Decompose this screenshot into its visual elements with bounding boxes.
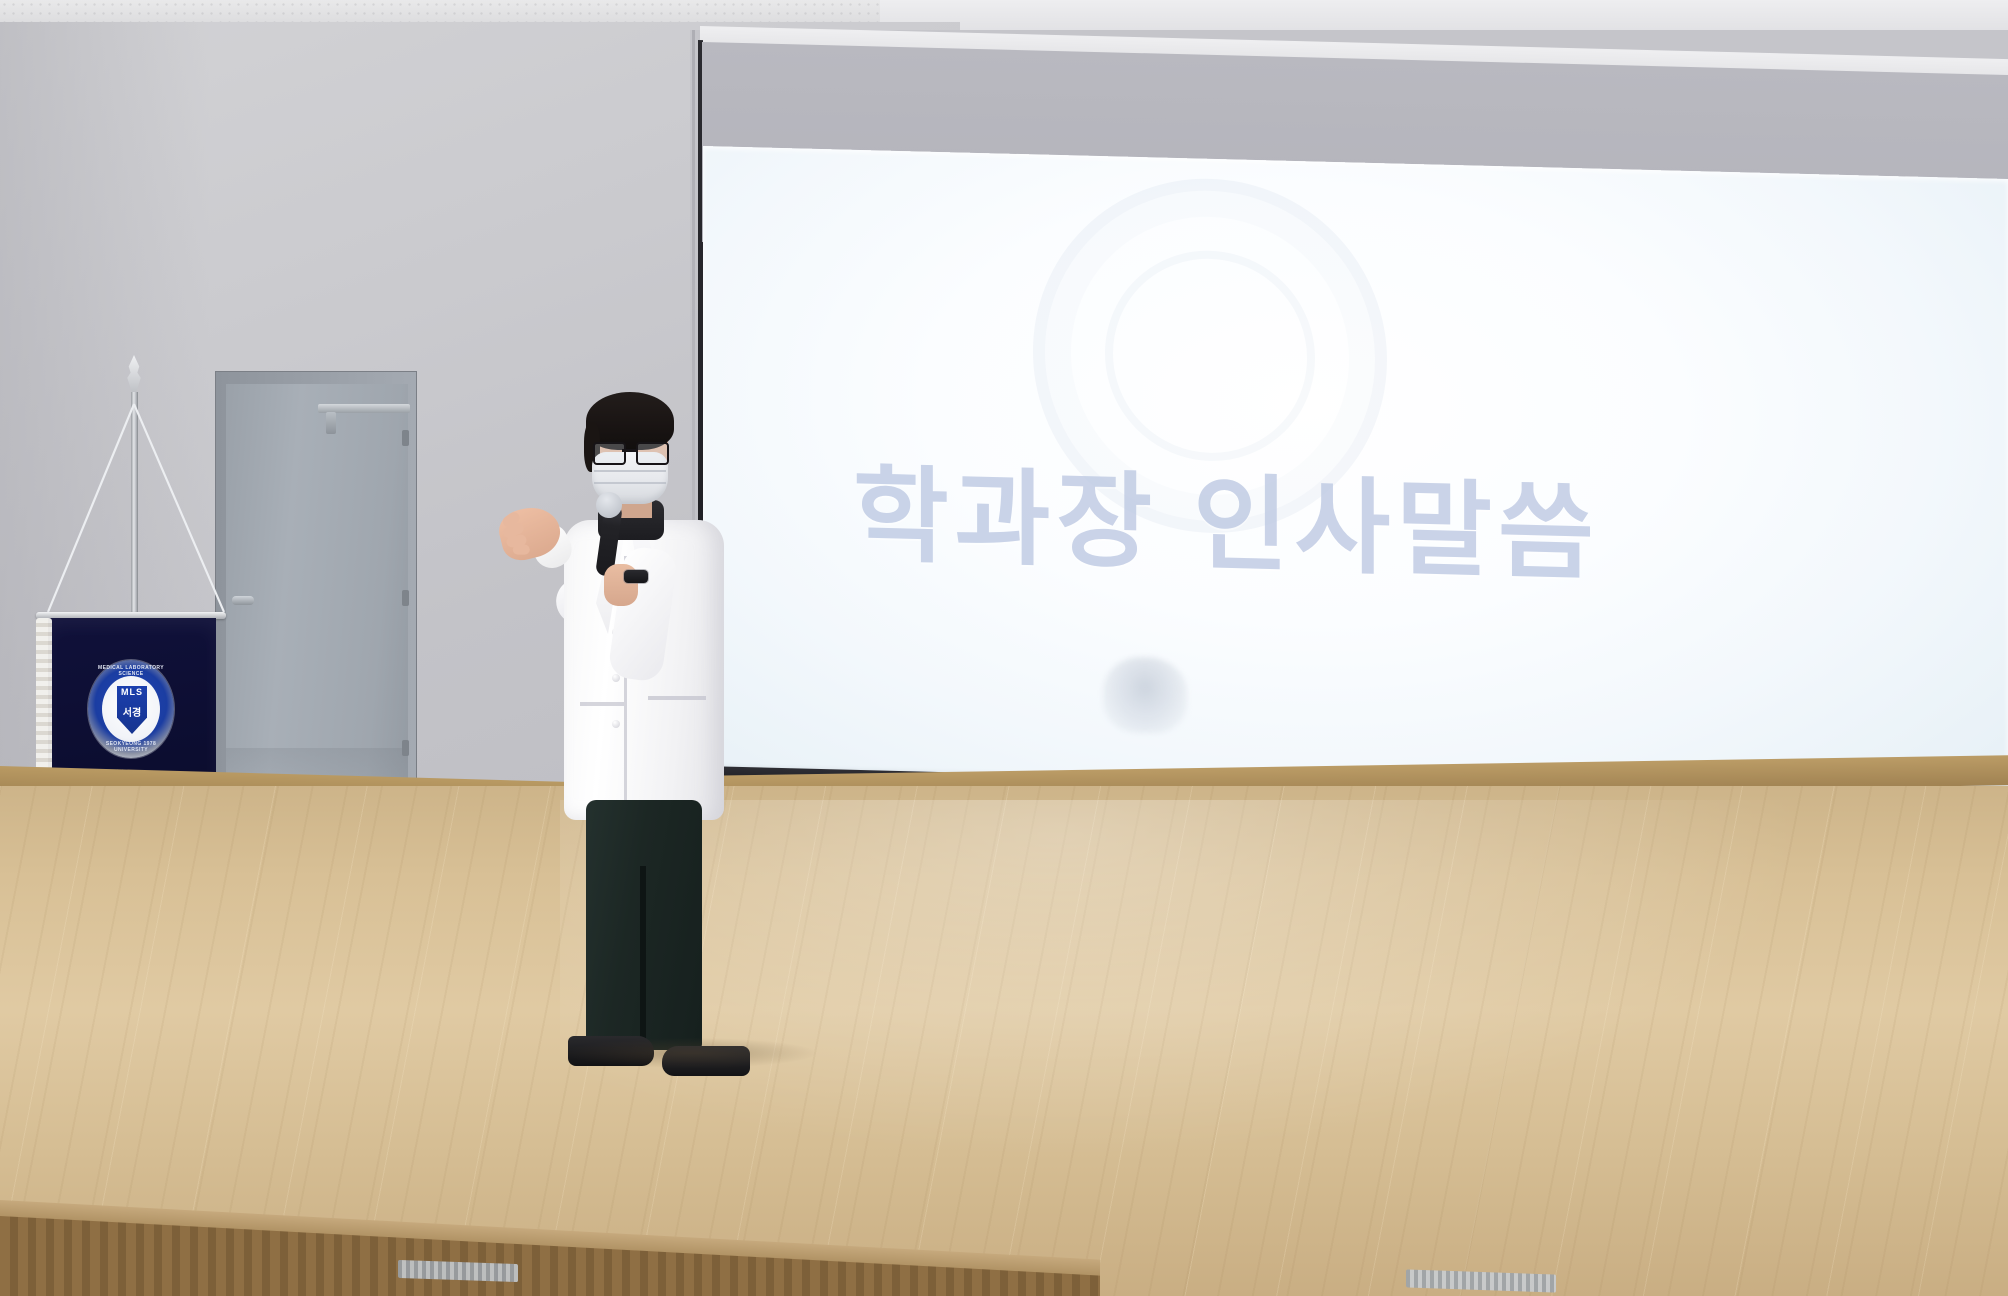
presenter-floor-shadow [566, 1038, 816, 1068]
coat-pocket-left [580, 702, 624, 706]
banner-hanging-rod [36, 612, 226, 619]
coat-button [612, 720, 620, 728]
presenter-head-shadow [1103, 656, 1187, 734]
slide-title-text: 학과장 인사말씀 [853, 430, 2003, 610]
door-hinge [402, 430, 409, 446]
trouser-leg-gap [640, 866, 646, 1051]
coat-pocket-right [648, 696, 706, 700]
door-hinge [402, 590, 409, 606]
door-hinge [402, 740, 409, 756]
photo-scene: 학과장 인사말씀 MEDICAL LABORATORY SCIENCE MLS … [0, 0, 2008, 1296]
emblem-arc-bottom-text: SEOKYEONG 1978 UNIVERSITY [88, 741, 174, 753]
mask-pleat [594, 470, 666, 472]
presenter [488, 396, 748, 996]
banner-support-cords [28, 398, 258, 638]
university-emblem: MEDICAL LABORATORY SCIENCE MLS 서경 SEOKYE… [88, 660, 174, 758]
emblem-korean-mark: 서경 [117, 704, 147, 719]
emblem-initials: MLS [117, 687, 147, 697]
screen-projection-surface: 학과장 인사말씀 [703, 146, 2008, 819]
door-closer-arm [326, 412, 336, 434]
projector-screen[interactable]: 학과장 인사말씀 [700, 26, 2008, 826]
eyeglasses-icon [593, 442, 665, 462]
wristwatch [624, 570, 648, 583]
mask-pleat [594, 482, 666, 484]
